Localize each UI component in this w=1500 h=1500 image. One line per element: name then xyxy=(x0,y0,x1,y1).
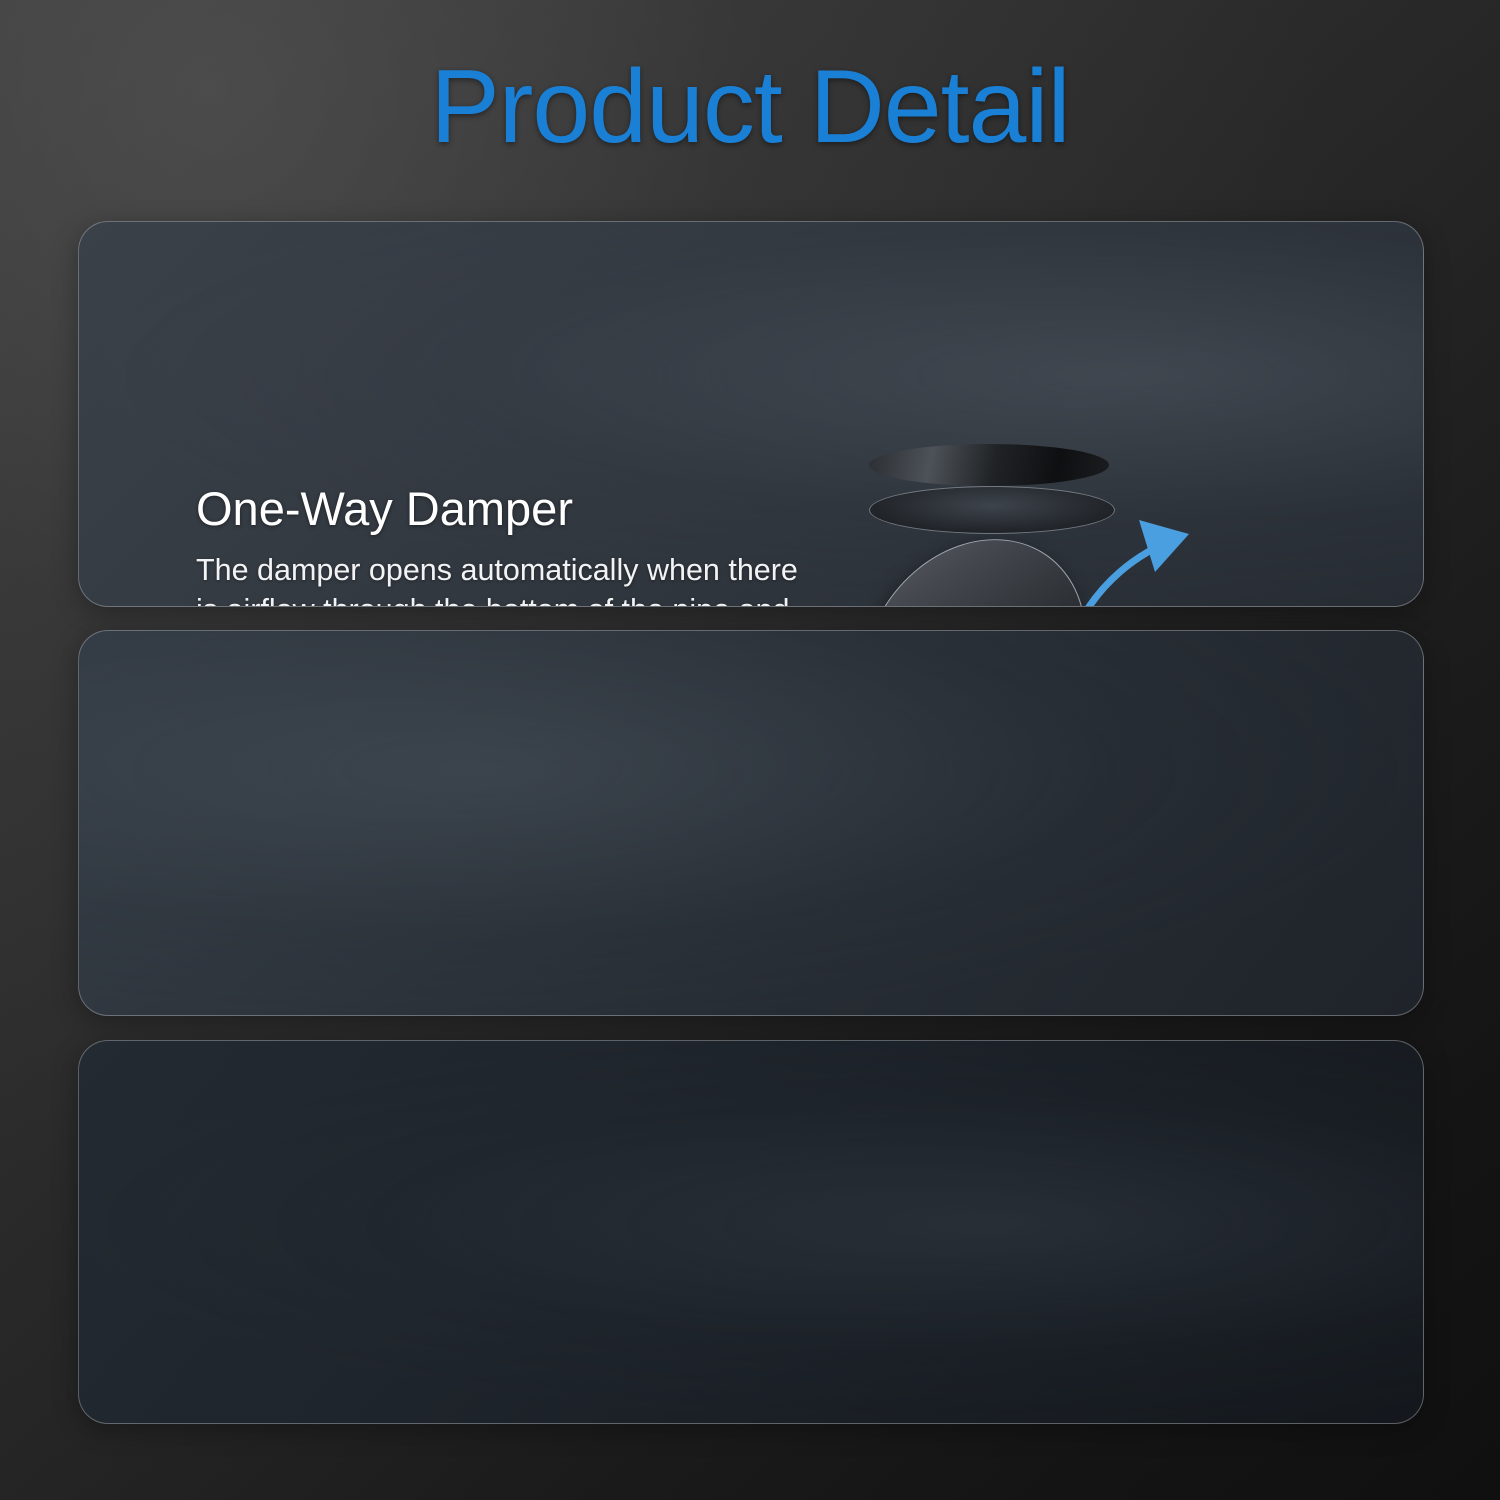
card-heading: One-Way Damper xyxy=(196,481,806,537)
feature-card-one-way-damper: One-Way Damper The damper opens automati… xyxy=(78,221,1424,607)
feature-card-iron-mesh: Iron Mesh With a grid gap of about 3mm t… xyxy=(78,630,1424,1016)
product-detail-page: Product Detail One-Way Damper The damper… xyxy=(0,0,1500,1500)
damper-text-block: One-Way Damper The damper opens automati… xyxy=(196,481,806,607)
page-title: Product Detail xyxy=(0,52,1500,162)
airflow-arrow-icon xyxy=(1029,484,1289,607)
feature-card-pre-drilled-holes: Pre-Drilled Holes There are 4 pre-drille… xyxy=(78,1040,1424,1424)
damper-illustration xyxy=(869,444,1424,607)
duct-collar-top xyxy=(869,444,1109,486)
card-body-text: The damper opens automatically when ther… xyxy=(196,551,806,607)
